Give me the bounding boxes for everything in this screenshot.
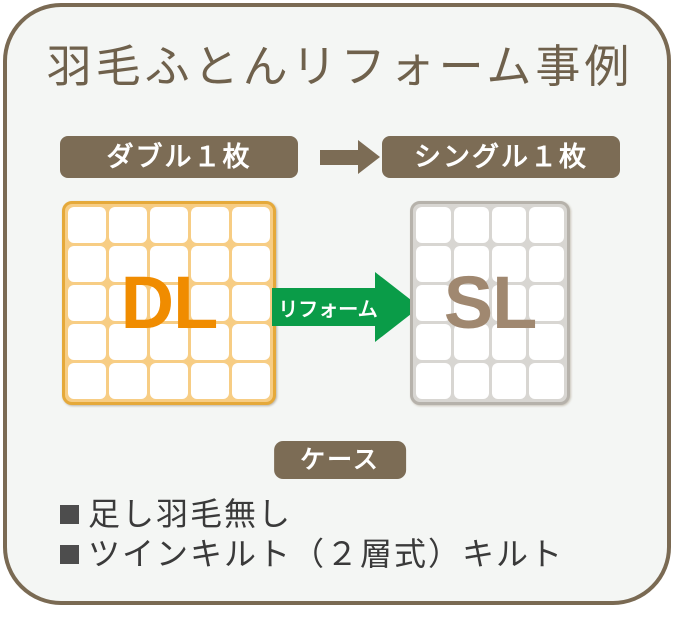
- bullet-square-icon: [60, 545, 79, 564]
- bullet-square-icon: [60, 505, 79, 524]
- page-title: 羽毛ふとんリフォーム事例: [0, 45, 680, 90]
- grid-cell: [68, 285, 106, 321]
- grid-cell: [191, 246, 229, 282]
- grid-cell: [492, 324, 527, 360]
- grid-cell: [109, 285, 147, 321]
- grid-cell: [416, 363, 451, 399]
- grid-cell: [454, 246, 489, 282]
- badge-to-size: シングル１枚: [382, 136, 620, 178]
- grid-cell: [416, 207, 451, 243]
- list-item-label: 足し羽毛無し: [88, 494, 292, 534]
- grid-cell: [232, 363, 270, 399]
- grid-cell: [191, 285, 229, 321]
- grid-cell: [492, 207, 527, 243]
- grid-cell: [109, 324, 147, 360]
- grid-cell: [109, 207, 147, 243]
- grid-cell: [150, 207, 188, 243]
- grid-cell: [109, 363, 147, 399]
- grid-cell: [150, 363, 188, 399]
- grid-cell: [150, 285, 188, 321]
- grid-cell: [492, 285, 527, 321]
- grid-cell: [454, 324, 489, 360]
- grid-cell: [68, 363, 106, 399]
- grid-cell: [454, 285, 489, 321]
- grid-cell: [109, 246, 147, 282]
- grid-cell: [529, 207, 564, 243]
- list-item: ツインキルト（２層式）キルト: [60, 534, 640, 574]
- infographic-root: 羽毛ふとんリフォーム事例 ダブル１枚 シングル１枚 DL: [0, 0, 680, 619]
- case-notes-list: 足し羽毛無し ツインキルト（２層式）キルト: [60, 494, 640, 574]
- grid-cell: [232, 285, 270, 321]
- grid-cell: [492, 363, 527, 399]
- grid-cell: [191, 324, 229, 360]
- grid-cell: [529, 285, 564, 321]
- grid-cell: [191, 363, 229, 399]
- grid-cell: [454, 207, 489, 243]
- grid-cell: [492, 246, 527, 282]
- grid-cell: [68, 207, 106, 243]
- reform-arrow-icon: リフォーム: [272, 272, 420, 342]
- futon-after-grid: [410, 201, 570, 405]
- grid-cell: [232, 324, 270, 360]
- conversion-badge-row: ダブル１枚 シングル１枚: [0, 136, 680, 178]
- grid-cell: [529, 324, 564, 360]
- reform-arrow-label: リフォーム: [276, 288, 380, 326]
- grid-cell: [150, 246, 188, 282]
- futon-before-grid: [62, 201, 276, 405]
- grid-cell: [416, 324, 451, 360]
- grid-cell: [150, 324, 188, 360]
- grid-cell: [416, 285, 451, 321]
- grid-cell: [68, 246, 106, 282]
- grid-cell: [416, 246, 451, 282]
- grid-cell: [232, 246, 270, 282]
- badge-from-size: ダブル１枚: [60, 136, 298, 178]
- case-badge: ケース: [274, 441, 406, 479]
- grid-cell: [68, 324, 106, 360]
- right-arrow-icon: [298, 136, 382, 178]
- grid-cell: [454, 363, 489, 399]
- grid-cell: [232, 207, 270, 243]
- grid-cell: [529, 246, 564, 282]
- list-item: 足し羽毛無し: [60, 494, 640, 534]
- grid-cell: [529, 363, 564, 399]
- grid-cell: [191, 207, 229, 243]
- list-item-label: ツインキルト（２層式）キルト: [88, 534, 564, 574]
